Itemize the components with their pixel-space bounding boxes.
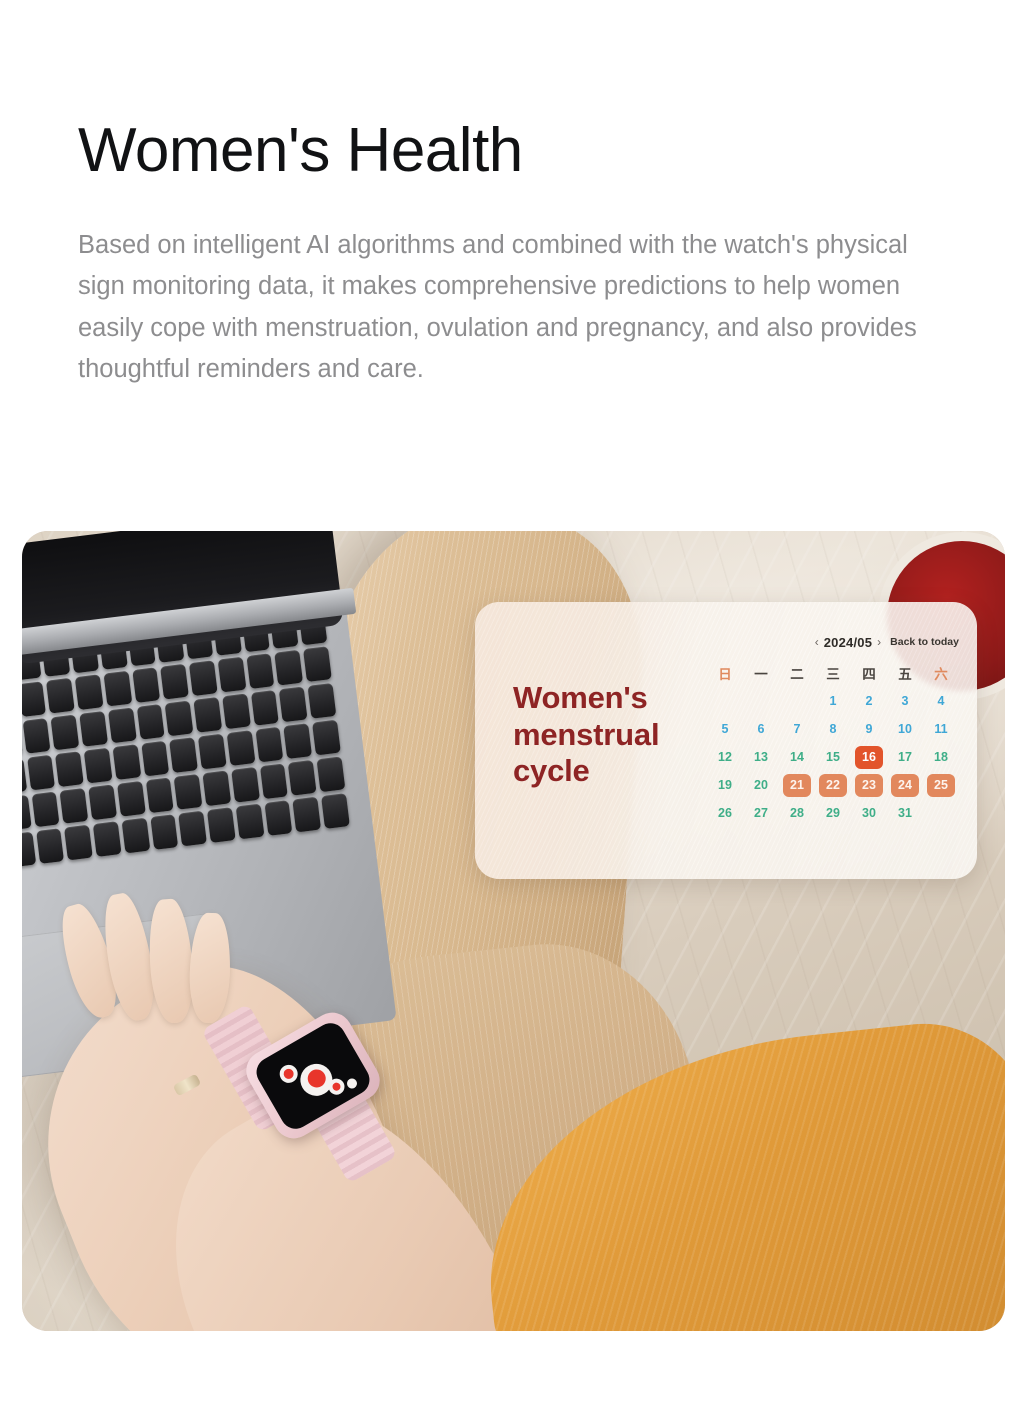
keyboard-key — [22, 758, 27, 794]
calendar-day-31[interactable]: 31 — [891, 802, 919, 825]
keyboard-key — [93, 821, 122, 857]
keyboard-key — [27, 755, 56, 791]
calendar-day-28[interactable]: 28 — [783, 802, 811, 825]
calendar-day-21[interactable]: 21 — [783, 774, 811, 797]
calendar-day-18[interactable]: 18 — [927, 746, 955, 769]
keyboard-key — [284, 723, 313, 759]
keyboard-key — [198, 734, 227, 770]
calendar-header: ‹ 2024/05 › Back to today — [707, 632, 959, 652]
keyboard-key — [22, 832, 36, 868]
keyboard-key — [227, 730, 256, 766]
calendar-day-6[interactable]: 6 — [747, 718, 775, 741]
keyboard-key — [288, 760, 317, 796]
keyboard-key — [231, 767, 260, 803]
keyboard-key — [246, 653, 275, 689]
calendar-day-7[interactable]: 7 — [783, 718, 811, 741]
keyboard-key — [141, 741, 170, 777]
keyboard-key — [75, 674, 104, 710]
keyboard-key — [36, 828, 65, 864]
menstrual-cycle-card: Women's menstrual cycle ‹ 2024/05 › Back… — [475, 602, 977, 879]
keyboard-key — [251, 690, 280, 726]
calendar-day-19[interactable]: 19 — [711, 774, 739, 797]
calendar-day-12[interactable]: 12 — [711, 746, 739, 769]
keyboard-key — [55, 751, 84, 787]
calendar-day-9[interactable]: 9 — [855, 718, 883, 741]
keyboard-key — [194, 697, 223, 733]
keyboard-key — [321, 793, 350, 829]
calendar-day-13[interactable]: 13 — [747, 746, 775, 769]
keyboard-key — [260, 763, 289, 799]
keyboard-key — [117, 781, 146, 817]
keyboard-key — [279, 686, 308, 722]
cycle-calendar[interactable]: ‹ 2024/05 › Back to today 日一二三四五六 123456… — [707, 632, 959, 825]
calendar-weekday: 日 — [707, 663, 743, 683]
calendar-weekday: 一 — [743, 663, 779, 683]
keyboard-key — [308, 683, 337, 719]
calendar-weekday: 五 — [887, 663, 923, 683]
keyboard-key — [22, 718, 51, 754]
keyboard-key — [236, 804, 265, 840]
keyboard-key — [178, 811, 207, 847]
keyboard-key — [222, 693, 251, 729]
keyboard-key — [22, 681, 46, 717]
keyboard-key — [255, 727, 284, 763]
keyboard-key — [84, 748, 113, 784]
calendar-day-14[interactable]: 14 — [783, 746, 811, 769]
calendar-day-27[interactable]: 27 — [747, 802, 775, 825]
keyboard-key — [22, 795, 31, 831]
keyboard-key — [103, 671, 132, 707]
calendar-day-2[interactable]: 2 — [855, 690, 883, 713]
keyboard-key — [317, 756, 346, 792]
keyboard-key — [46, 678, 75, 714]
keyboard-key — [79, 711, 108, 747]
calendar-day-30[interactable]: 30 — [855, 802, 883, 825]
calendar-weekday: 二 — [779, 663, 815, 683]
calendar-day-1[interactable]: 1 — [819, 690, 847, 713]
page-description: Based on intelligent AI algorithms and c… — [78, 225, 958, 390]
keyboard-key — [136, 704, 165, 740]
keyboard-key — [293, 797, 322, 833]
keyboard-key — [275, 650, 304, 686]
keyboard-key — [165, 700, 194, 736]
watch-dot — [345, 1077, 359, 1091]
keyboard-key — [108, 708, 137, 744]
keyboard-key — [112, 744, 141, 780]
keyboard-key — [174, 774, 203, 810]
calendar-day-grid[interactable]: 1234567891011121314151617181920212223242… — [707, 690, 959, 825]
calendar-day-26[interactable]: 26 — [711, 802, 739, 825]
keyboard-key — [150, 814, 179, 850]
keyboard-key — [203, 770, 232, 806]
keyboard-key — [31, 791, 60, 827]
calendar-day-16[interactable]: 16 — [855, 746, 883, 769]
calendar-day-3[interactable]: 3 — [891, 690, 919, 713]
keyboard-key — [303, 646, 332, 682]
calendar-weekday-row: 日一二三四五六 — [707, 663, 959, 683]
calendar-day-17[interactable]: 17 — [891, 746, 919, 769]
keyboard-key — [60, 788, 89, 824]
back-to-today-button[interactable]: Back to today — [890, 636, 959, 648]
keyboard-key — [64, 825, 93, 861]
keyboard-key — [264, 800, 293, 836]
calendar-weekday: 六 — [923, 663, 959, 683]
calendar-day-10[interactable]: 10 — [891, 718, 919, 741]
header-block: Women's Health Based on intelligent AI a… — [78, 118, 968, 390]
keyboard-key — [88, 784, 117, 820]
keyboard-key — [121, 818, 150, 854]
calendar-day-23[interactable]: 23 — [855, 774, 883, 797]
calendar-day-22[interactable]: 22 — [819, 774, 847, 797]
keyboard-key — [51, 715, 80, 751]
keyboard-key — [145, 777, 174, 813]
prev-month-icon[interactable]: ‹ — [810, 635, 824, 649]
calendar-day-29[interactable]: 29 — [819, 802, 847, 825]
calendar-day-24[interactable]: 24 — [891, 774, 919, 797]
keyboard-key — [160, 664, 189, 700]
next-month-icon[interactable]: › — [872, 635, 886, 649]
calendar-day-15[interactable]: 15 — [819, 746, 847, 769]
calendar-weekday: 三 — [815, 663, 851, 683]
page-title: Women's Health — [78, 118, 968, 183]
calendar-weekday: 四 — [851, 663, 887, 683]
calendar-day-5[interactable]: 5 — [711, 718, 739, 741]
cycle-card-title: Women's menstrual cycle — [513, 680, 713, 790]
keyboard-key — [218, 657, 247, 693]
hero-photo: Women's menstrual cycle ‹ 2024/05 › Back… — [22, 531, 1005, 1331]
keyboard-key — [207, 807, 236, 843]
keyboard-key — [312, 720, 341, 756]
calendar-day-25[interactable]: 25 — [927, 774, 955, 797]
calendar-month-label: 2024/05 — [824, 635, 872, 650]
calendar-day-20[interactable]: 20 — [747, 774, 775, 797]
calendar-day-11[interactable]: 11 — [927, 718, 955, 741]
calendar-day-8[interactable]: 8 — [819, 718, 847, 741]
calendar-day-4[interactable]: 4 — [927, 690, 955, 713]
keyboard-key — [189, 660, 218, 696]
keyboard-key — [132, 667, 161, 703]
keyboard-key — [169, 737, 198, 773]
